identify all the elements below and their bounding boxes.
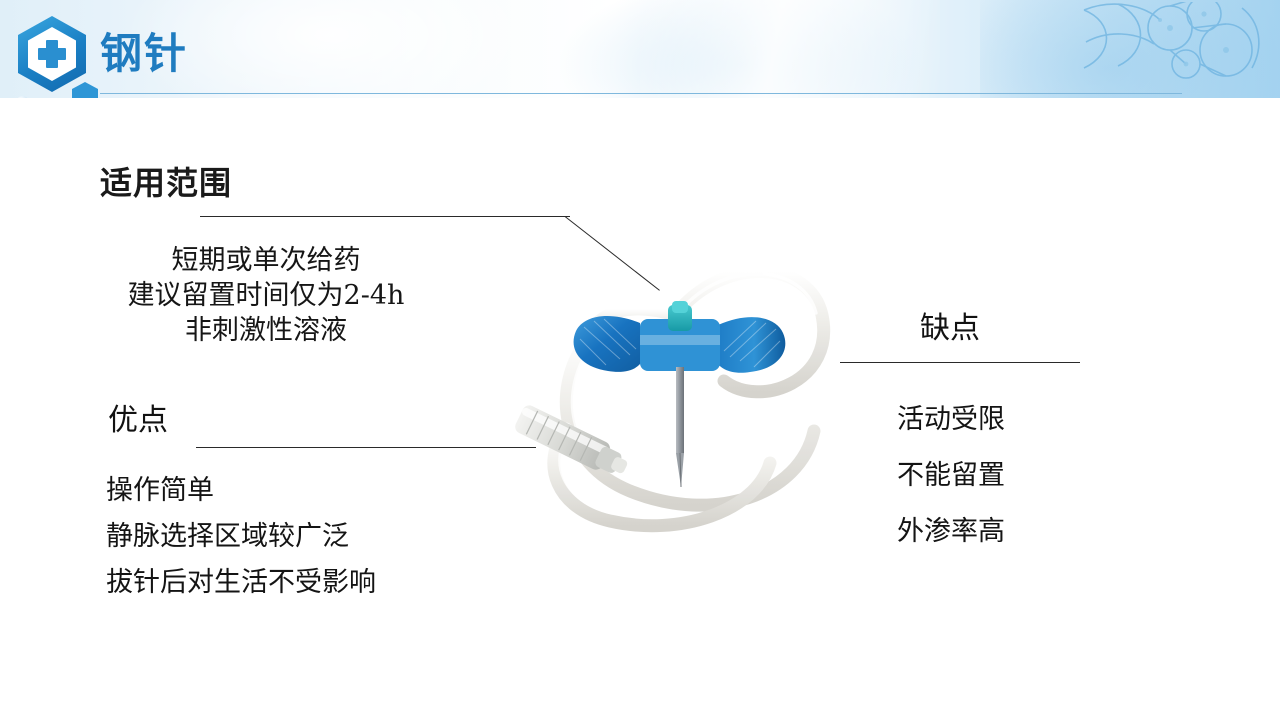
scope-heading: 适用范围 xyxy=(100,158,232,204)
page-title: 钢针 xyxy=(100,20,188,81)
scope-text-block: 短期或单次给药 建议留置时间仅为2-4h 非刺激性溶液 xyxy=(86,243,446,348)
cons-item-2: 不能留置 xyxy=(897,448,1005,504)
bubble-decor-large xyxy=(16,96,29,98)
medical-cross-icon-bar xyxy=(38,48,66,60)
scalp-vein-needle-photo xyxy=(470,195,890,595)
scope-line-3: 非刺激性溶液 xyxy=(86,313,446,348)
header-light-streak xyxy=(640,0,940,98)
pros-list: 操作简单 静脉选择区域较广泛 拔针后对生活不受影响 xyxy=(106,468,376,606)
pros-item-2: 静脉选择区域较广泛 xyxy=(106,514,376,560)
cons-list: 活动受限 不能留置 外渗率高 xyxy=(897,392,1005,560)
cons-item-3: 外渗率高 xyxy=(897,504,1005,560)
pros-item-1: 操作简单 xyxy=(106,468,376,514)
logo-hexagon xyxy=(18,16,86,92)
dna-helix-icon xyxy=(1074,2,1274,98)
slide-header: 钢针 xyxy=(0,0,1280,98)
pros-heading: 优点 xyxy=(108,395,168,439)
header-divider xyxy=(100,93,1182,94)
scope-line-2: 建议留置时间仅为2-4h xyxy=(86,278,446,313)
scope-line-1: 短期或单次给药 xyxy=(86,243,446,278)
cons-item-1: 活动受限 xyxy=(897,392,1005,448)
pros-item-3: 拔针后对生活不受影响 xyxy=(106,560,376,606)
cons-heading: 缺点 xyxy=(920,303,980,347)
slide: 钢针 适用范围 短期或单次给药 建议留置时间仅为2-4h 非刺激性溶液 优点 操… xyxy=(0,0,1280,720)
